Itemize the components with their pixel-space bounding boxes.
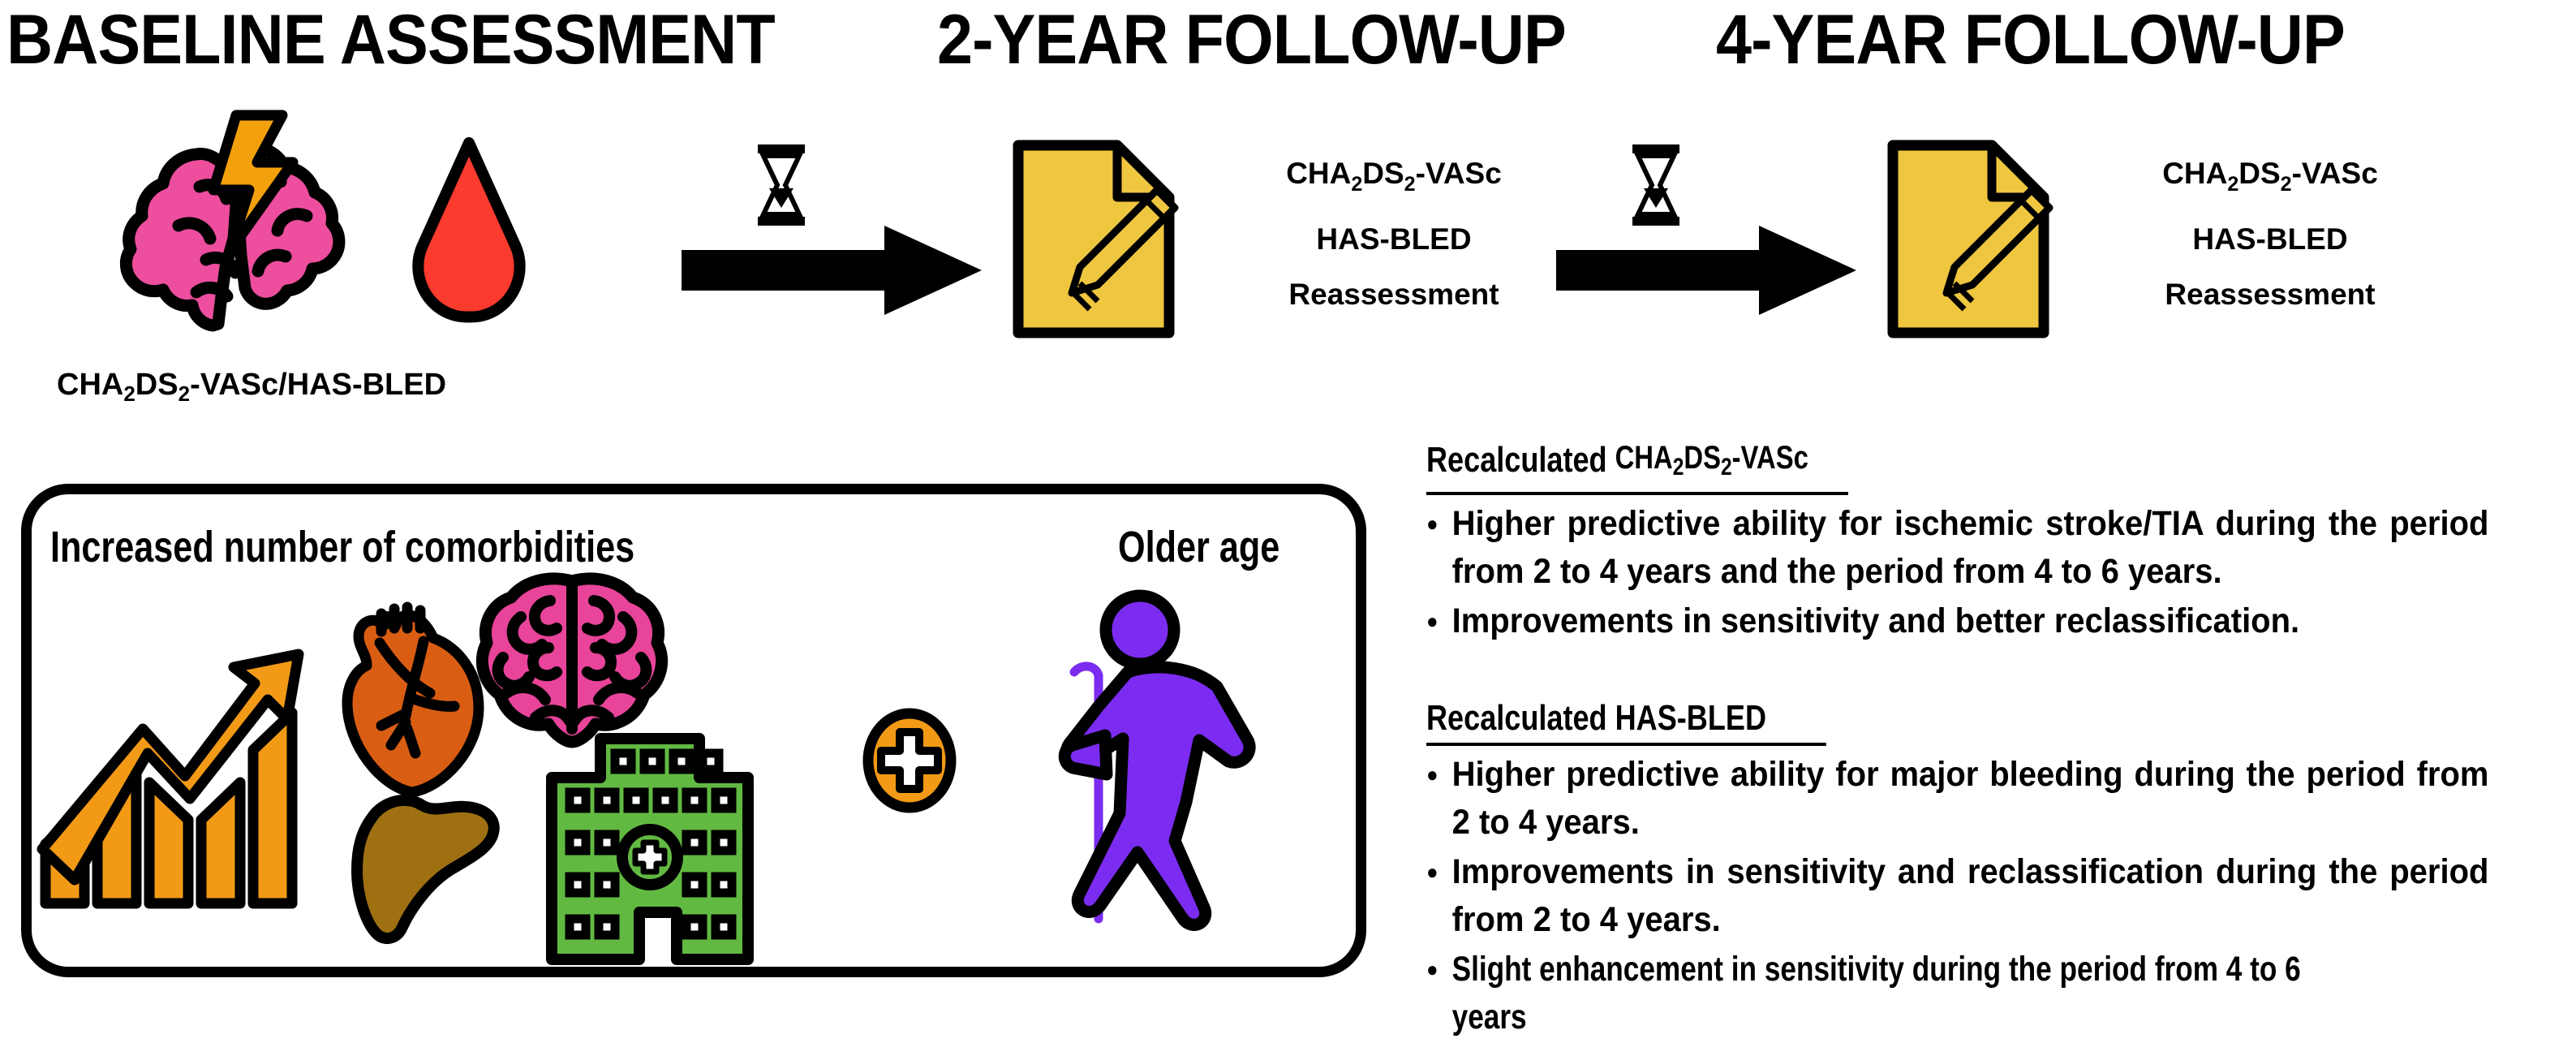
findings-list-hasbled: Higher predictive ability for major blee… [1426,751,2569,1041]
followup-2y-line-hasbled: HAS-BLED [1223,217,1564,262]
finding-item: Higher predictive ability for ischemic s… [1426,500,2488,596]
finding-item: Improvements in sensitivity and better r… [1426,597,2488,645]
arrow-right-icon-1 [682,226,982,315]
followup-4y-line-reassessment: Reassessment [2100,272,2441,317]
document-pencil-icon-2 [1887,140,2049,338]
finding-item: Slight enhancement in sensitivity during… [1426,946,2488,1041]
header-2-year-followup: 2-YEAR FOLLOW-UP [937,5,1566,75]
finding-item: Improvements in sensitivity and reclassi… [1426,848,2488,944]
hourglass-icon-2 [1629,144,1683,226]
bar-chart-growth-icon [39,631,315,924]
older-age-label: Older age [1118,525,1279,569]
hourglass-icon-1 [755,144,808,226]
findings-panel: Recalculated CHA2DS2-VASc Higher predict… [1426,437,2569,1043]
followup-2y-line-chads: CHA2DS2-VASc [1223,151,1564,207]
brain-stroke-icon [122,112,357,331]
followup-2y-line-reassessment: Reassessment [1223,272,1564,317]
finding-item: Higher predictive ability for major blee… [1426,751,2488,847]
elderly-walker-icon [1024,589,1275,930]
findings-heading-chads: Recalculated CHA2DS2-VASc [1426,437,1848,495]
brain-icon [479,573,665,748]
blood-drop-icon [404,136,534,323]
header-baseline-assessment: BASELINE ASSESSMENT [6,5,775,75]
infographic-canvas: BASELINE ASSESSMENT 2-YEAR FOLLOW-UP 4-Y… [0,0,2576,1001]
followup-4y-line-chads: CHA2DS2-VASc [2100,151,2441,207]
arrow-right-icon-2 [1556,226,1856,315]
baseline-score-caption: CHA2DS2-VASc/HAS-BLED [57,369,446,409]
followup-4y-score-text: CHA2DS2-VASc HAS-BLED Reassessment [2100,151,2441,327]
hospital-icon [540,731,759,966]
comorbidity-box-label: Increased number of comorbidities [50,525,634,569]
findings-section-gap [1426,647,2569,697]
header-4-year-followup: 4-YEAR FOLLOW-UP [1716,5,2345,75]
findings-list-chads: Higher predictive ability for ischemic s… [1426,500,2569,645]
plus-circle-icon [862,708,957,813]
liver-icon [350,786,505,948]
findings-heading-hasbled: Recalculated HAS-BLED [1426,697,1826,746]
followup-4y-line-hasbled: HAS-BLED [2100,217,2441,262]
followup-2y-score-text: CHA2DS2-VASc HAS-BLED Reassessment [1223,151,1564,327]
document-pencil-icon-1 [1013,140,1175,338]
heart-icon [341,593,495,795]
